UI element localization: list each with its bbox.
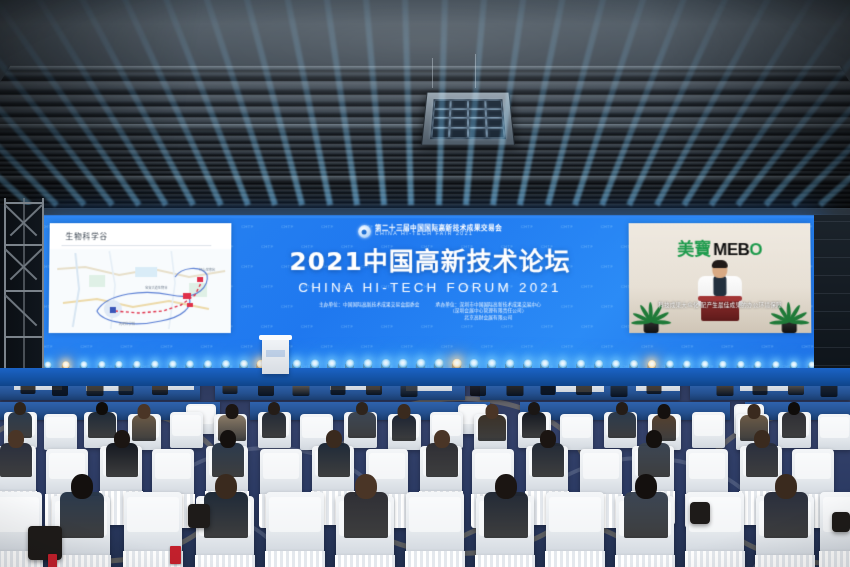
audience-member: [60, 474, 104, 542]
audience-chair: [266, 492, 324, 552]
chair-skirt: [195, 555, 255, 567]
audience-chair: [260, 449, 302, 495]
wall-rib: [0, 208, 850, 209]
audience-chair: [818, 414, 850, 450]
member-torso: [118, 386, 133, 395]
member-torso: [52, 386, 68, 396]
member-torso: [86, 386, 103, 396]
member-head: [495, 474, 517, 499]
led-watermark: CHTF: [121, 344, 133, 349]
forum-title-en: CHINA HI-TECH FORUM 2021: [243, 280, 617, 295]
member-head: [754, 430, 770, 448]
member-torso: [746, 443, 778, 477]
organizer-co-host: 承办单位：深圳市中国国际高新技术成果交易中心 （深圳会展中心管理有限责任公司） …: [436, 302, 542, 321]
led-watermark: CHTF: [501, 324, 513, 329]
led-watermark: CHTF: [481, 344, 493, 349]
member-head: [616, 402, 628, 415]
member-torso: [470, 386, 486, 396]
light-cell: [451, 129, 467, 137]
red-folder: [170, 546, 181, 564]
led-watermark: CHTF: [541, 324, 553, 329]
member-torso: [532, 443, 564, 477]
member-head: [220, 430, 236, 448]
svg-text:坪山生物谷: 坪山生物谷: [199, 267, 216, 272]
map-svg: 宝安大道生物谷 坪山生物谷 光明科学城: [49, 249, 232, 333]
audience-chair: [580, 449, 622, 495]
audience-member: [788, 386, 804, 397]
light-lens: [292, 359, 301, 368]
audience-chair: [44, 414, 77, 450]
handbag: [690, 502, 710, 524]
led-watermark: CHTF: [581, 324, 593, 329]
hanging-wire: [432, 58, 433, 88]
member-head: [326, 430, 342, 448]
led-watermark: CHTF: [261, 324, 273, 329]
member-torso: [212, 443, 244, 477]
light-lens: [239, 360, 247, 368]
led-watermark: CHTF: [681, 344, 693, 349]
member-head: [528, 402, 540, 415]
speaker-shirt: [713, 276, 726, 296]
member-head: [398, 404, 411, 419]
light-lens: [310, 359, 319, 368]
audience-member: [782, 402, 806, 440]
led-watermark: CHTF: [561, 344, 573, 349]
light-lens: [629, 360, 637, 368]
audience-member: [344, 474, 388, 542]
audience-chair: [692, 412, 725, 448]
light-lens: [398, 359, 407, 368]
audience-member: [152, 386, 168, 397]
svg-text:光明科学城: 光明科学城: [119, 321, 136, 326]
lectern-top: [259, 335, 292, 340]
left-screen-title: 生物科学谷: [66, 231, 109, 242]
light-lens: [327, 359, 336, 368]
chtf-globe-logo: [358, 225, 371, 238]
light-cell: [469, 119, 485, 127]
led-watermark: CHTF: [301, 324, 313, 329]
light-lens: [416, 358, 425, 367]
light-cell: [486, 110, 502, 118]
left-content-screen: 生物科学谷: [49, 223, 232, 333]
audience-member: [608, 402, 636, 440]
light-lens: [540, 359, 549, 368]
main-title-block: 第二十三届中国国际高新技术成果交易会 CHINA HI-TECH FAIR 20…: [243, 222, 617, 321]
organizer-line: 北京高财会展有限公司: [436, 315, 542, 321]
audience-member: [752, 386, 767, 397]
light-lens: [505, 359, 514, 368]
light-lens: [363, 359, 372, 368]
member-torso: [222, 386, 237, 394]
light-lens: [487, 359, 496, 368]
forum-title-cn: 2021中国高新技术论坛: [243, 242, 617, 278]
member-head: [658, 404, 671, 419]
audience-member: [392, 404, 416, 443]
member-torso: [20, 386, 35, 394]
audience-member: [52, 386, 68, 398]
light-lens: [558, 359, 567, 368]
led-watermark: CHTF: [441, 344, 453, 349]
chair-skirt: [545, 551, 605, 567]
member-torso: [204, 492, 248, 538]
svg-text:宝安大道生物谷: 宝安大道生物谷: [145, 285, 168, 290]
audience-chair: [152, 449, 194, 495]
member-head: [434, 430, 450, 448]
led-watermark: CHTF: [721, 344, 733, 349]
light-lens: [381, 359, 390, 368]
audience-chair: [124, 492, 182, 552]
light-lens: [451, 359, 460, 368]
chair-skirt: [685, 551, 745, 567]
led-watermark: CHTF: [401, 344, 413, 349]
audience-member: [820, 386, 837, 399]
hanging-wire: [475, 54, 476, 88]
member-torso: [318, 443, 350, 477]
member-torso: [624, 492, 668, 538]
audience-chair: [560, 414, 593, 450]
led-watermark: CHTF: [761, 344, 773, 349]
member-torso: [330, 386, 345, 395]
member-head: [138, 404, 151, 419]
organizer-line: 主办单位：中国国际高新技术成果交易会组委会: [319, 302, 420, 308]
audience-member: [716, 386, 733, 398]
audience-member: [262, 402, 286, 440]
member-torso: [788, 386, 804, 395]
led-watermark: CHTF: [361, 344, 373, 349]
audience-member: [624, 474, 668, 542]
audience-member: [330, 386, 345, 397]
stage-lectern: [262, 338, 289, 374]
ceiling-light-panel-center: [421, 92, 515, 146]
member-head: [96, 402, 108, 415]
chair-skirt: [755, 555, 815, 567]
audience-member: [478, 404, 506, 443]
audience-member: [212, 430, 244, 480]
mebo-brand-en: MEBO: [713, 240, 762, 260]
speaker-hair: [712, 260, 728, 268]
light-lens: [345, 359, 354, 368]
map-diagram: 宝安大道生物谷 坪山生物谷 光明科学城: [49, 249, 232, 333]
audience-member: [484, 474, 528, 542]
member-torso: [106, 443, 138, 477]
audience-member: [746, 430, 778, 480]
member-torso: [764, 492, 808, 538]
chair-skirt: [615, 555, 675, 567]
led-watermark: CHTF: [161, 344, 173, 349]
audience-member: [106, 430, 138, 480]
chair-skirt: [335, 555, 395, 567]
led-watermark: CHTF: [381, 324, 393, 329]
light-lens: [221, 360, 229, 368]
audience-member: [576, 386, 592, 397]
member-head: [486, 404, 499, 419]
light-cell: [469, 110, 485, 118]
member-head: [114, 430, 130, 448]
audience-member: [540, 386, 555, 397]
member-head: [646, 430, 662, 448]
audience-chair: [546, 492, 604, 552]
member-torso: [716, 386, 733, 396]
lectern-logo-plate: [266, 350, 285, 357]
member-torso: [540, 386, 555, 395]
audience-member: [426, 430, 458, 480]
light-cell: [452, 101, 467, 108]
venue-photo: CHTFCHTFCHTFCHTFCHTFCHTFCHTFCHTFCHTFCHTF…: [0, 0, 850, 567]
mebo-brand-cn: 美寶: [677, 235, 711, 260]
member-torso: [752, 386, 767, 395]
right-content-screen: 美寶 MEBO: [629, 223, 812, 333]
member-torso: [60, 492, 104, 538]
audience-member: [318, 430, 350, 480]
light-cell: [469, 101, 484, 108]
audience-chair: [686, 449, 728, 495]
member-torso: [152, 386, 168, 395]
audience-member: [638, 430, 670, 480]
member-head: [8, 430, 24, 448]
chair-skirt: [405, 551, 465, 567]
audience-member: [204, 474, 248, 542]
audience-member: [646, 386, 661, 396]
speaker-figure: [693, 261, 747, 319]
light-lens: [612, 360, 620, 368]
led-watermark: CHTF: [421, 324, 433, 329]
member-head: [215, 474, 237, 499]
led-watermark: CHTF: [341, 324, 353, 329]
audience-member: [292, 386, 309, 398]
audience-member: [610, 386, 627, 399]
member-head: [775, 474, 797, 499]
title-divider: [62, 245, 212, 246]
audience-chair: [170, 412, 203, 448]
audience-member: [506, 386, 523, 398]
audience-member: [366, 386, 382, 397]
audience-floor: [0, 386, 850, 567]
audience-member: [400, 386, 417, 399]
audience-member: [258, 386, 274, 398]
member-torso: [782, 412, 806, 438]
member-head: [226, 404, 239, 419]
led-watermark: CHTF: [241, 344, 253, 349]
broadcast-caption: 科技成果大众化 配产生最佳成果的办公环境保障: [629, 301, 811, 309]
led-watermark: CHTF: [461, 324, 473, 329]
member-head: [355, 474, 377, 499]
light-cell: [487, 129, 504, 137]
member-torso: [400, 386, 417, 397]
member-torso: [506, 386, 523, 396]
organizers-block: 主办单位：中国国际高新技术成果交易会组委会 承办单位：深圳市中国国际高新技术成果…: [243, 302, 617, 321]
light-cell: [434, 110, 450, 118]
red-folder: [48, 554, 57, 567]
light-cell: [435, 101, 451, 108]
member-torso: [344, 492, 388, 538]
member-torso: [0, 443, 32, 477]
fair-name-en: CHINA HI-TECH FAIR 2021: [375, 233, 502, 239]
chair-skirt: [819, 551, 850, 567]
light-lens: [469, 359, 478, 368]
audience-member: [222, 386, 237, 396]
member-torso: [366, 386, 382, 395]
member-head: [268, 402, 280, 415]
mebo-brand-logo: 美寶 MEBO: [677, 235, 762, 260]
light-cell: [469, 129, 485, 137]
member-torso: [610, 386, 627, 397]
led-watermark: CHTF: [601, 344, 613, 349]
organizer-line: （深圳会展中心管理有限责任公司）: [436, 308, 542, 314]
audience-member: [470, 386, 486, 398]
right-wall: [814, 215, 850, 375]
handbag: [832, 512, 850, 532]
light-cell: [432, 129, 449, 137]
led-watermark: CHTF: [321, 344, 333, 349]
handbag: [188, 504, 210, 528]
audience-member: [0, 430, 32, 480]
led-watermark: CHTF: [801, 344, 813, 349]
member-torso: [484, 492, 528, 538]
member-head: [748, 404, 761, 419]
led-watermark: CHTF: [201, 344, 213, 349]
audience-chair: [406, 492, 464, 552]
member-torso: [638, 443, 670, 477]
led-watermark: CHTF: [81, 344, 93, 349]
member-torso: [392, 415, 416, 441]
member-head: [71, 474, 93, 499]
light-lens: [594, 360, 603, 369]
member-head: [540, 430, 556, 448]
light-cell: [451, 119, 467, 127]
audience-member: [764, 474, 808, 542]
member-torso: [608, 412, 636, 438]
member-head: [356, 402, 368, 415]
organizer-host: 主办单位：中国国际高新技术成果交易会组委会: [319, 302, 420, 308]
audience-member: [86, 386, 103, 398]
led-watermark: CHTF: [641, 344, 653, 349]
member-torso: [262, 412, 286, 438]
audience-member: [532, 430, 564, 480]
member-torso: [258, 386, 274, 396]
chair-skirt: [475, 555, 535, 567]
audience-member: [20, 386, 35, 396]
member-torso: [426, 443, 458, 477]
member-torso: [646, 386, 661, 394]
member-torso: [576, 386, 592, 395]
audience-member: [348, 402, 376, 440]
member-torso: [348, 412, 376, 438]
audience-member: [118, 386, 133, 397]
member-head: [788, 402, 800, 415]
member-torso: [820, 386, 837, 397]
member-torso: [292, 386, 309, 396]
light-lens: [434, 358, 443, 367]
light-cell: [487, 119, 503, 127]
ceiling-shadow-right: [595, 0, 850, 240]
chair-skirt: [265, 551, 325, 567]
scaffold-tower: [2, 198, 46, 373]
light-lens: [523, 359, 532, 368]
member-torso: [478, 415, 506, 441]
member-head: [635, 474, 657, 499]
light-lens: [576, 360, 585, 369]
event-logo-lockup: 第二十三届中国国际高新技术成果交易会 CHINA HI-TECH FAIR 20…: [243, 225, 616, 238]
light-cell: [451, 110, 467, 118]
light-cell: [486, 101, 502, 108]
member-head: [14, 402, 26, 415]
light-cell: [433, 119, 449, 127]
led-watermark: CHTF: [521, 344, 533, 349]
